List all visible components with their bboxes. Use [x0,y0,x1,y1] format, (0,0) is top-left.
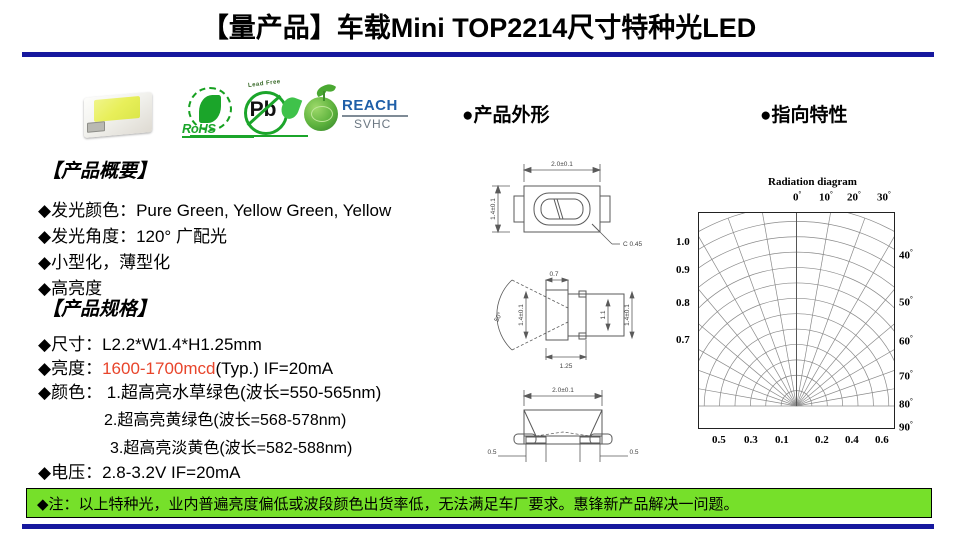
cad-top-width-dim: 2.0±0.1 [551,161,573,168]
overview-item-compact: ◆小型化，薄型化 [38,248,170,273]
reach-globe-icon [304,97,338,131]
overview-item-color: ◆发光颜色：Pure Green, Yellow Green, Yellow [38,196,391,221]
radiation-polar-grid [699,213,894,428]
spec-color-2: 2.超高亮黄绿色(波长=568-578nm) [104,406,346,430]
spec-color-3: 3.超高亮淡黄色(波长=582-588nm) [110,434,352,458]
radiation-left-tick-0-7: 0.7 [676,334,690,346]
spec-brightness-suffix: (Typ.) IF=20mA [216,359,334,378]
footer-divider [22,524,934,529]
reach-logo: REACH SVHC [302,85,410,139]
radiation-right-tick-90: 90° [899,420,913,434]
radiation-right-tick-40: 40° [899,248,913,262]
pb-underline [190,135,308,137]
radiation-right-tick-60: 60° [899,334,913,348]
section-heading-outline: ●产品外形 [462,100,549,127]
cad-side-top-dim: 0.7 [549,271,558,278]
cad-side-left-dim: 1.4±0.1 [518,304,525,326]
footer-note-text: ◆注：以上特种光，业内普遍亮度偏低或波段颜色出货率低，无法满足车厂要求。惠锋新产… [37,493,739,514]
radiation-plot-area [698,212,895,429]
radiation-bottom-tick-0-4: 0.4 [845,434,859,446]
cad-front-view: 2.0±0.1 0.5 0.5 [484,378,662,482]
cad-side-inner-dim: 1.1 [600,310,607,319]
cad-top-height-dim: 1.4±0.1 [490,198,497,220]
radiation-right-tick-80: 80° [899,397,913,411]
led-electrode-pad [87,121,105,133]
cad-side-bottom-dim: 1.25 [560,363,573,370]
led-phosphor-surface [94,96,140,122]
cad-front-width-dim: 2.0±0.1 [552,387,574,394]
pb-free-logo: Lead Free Pb [238,83,308,139]
radiation-bottom-tick-0-5: 0.5 [712,434,726,446]
spec-color-1: ◆颜色： 1.超高亮水草绿色(波长=550-565nm) [38,378,381,403]
radiation-bottom-tick-0-6: 0.6 [875,434,889,446]
radiation-right-tick-50: 50° [899,295,913,309]
spec-brightness: ◆亮度：1600-1700mcd(Typ.) IF=20mA [38,354,333,379]
radiation-top-tick-30: 30° [877,190,891,204]
cad-side-view: 0.7 1.4±0.1 1.1 1.4±0.1 1.25 50° [484,258,662,374]
radiation-bottom-tick-0-1: 0.1 [775,434,789,446]
page-title: 【量产品】车载Mini TOP2214尺寸特种光LED [0,6,958,45]
overview-heading: 【产品概要】 [42,156,156,183]
radiation-bottom-tick-0-2: 0.2 [815,434,829,446]
radiation-diagram: Radiation diagram 0° 10° 20° 30° 40° 50°… [688,172,938,472]
radiation-left-tick-0-8: 0.8 [676,297,690,309]
cad-top-view: 2.0±0.1 1.4±0.1 C 0.45 [484,148,662,256]
spec-voltage: ◆电压：2.8-3.2V IF=20mA [38,458,241,483]
spec-heading: 【产品规格】 [42,294,156,321]
certification-logo-row: RoHS Lead Free Pb REACH SVHC [70,83,410,145]
reach-label: REACH [342,97,398,114]
rohs-label: RoHS [182,121,215,136]
radiation-left-tick-0-9: 0.9 [676,264,690,276]
radiation-top-tick-0: 0° [793,190,801,204]
spec-brightness-prefix: ◆亮度： [38,359,102,378]
header-divider [22,52,934,57]
led-chip-photo [78,91,156,137]
cad-front-right-dim: 0.5 [629,449,638,456]
overview-item-angle: ◆发光角度：120° 广配光 [38,222,227,247]
spec-size: ◆尺寸：L2.2*W1.4*H1.25mm [38,330,262,355]
reach-sublabel: SVHC [354,117,391,131]
radiation-bottom-tick-0-3: 0.3 [744,434,758,446]
section-heading-radiation: ●指向特性 [760,100,847,127]
cad-front-left-dim: 0.5 [487,449,496,456]
radiation-left-tick-1-0: 1.0 [676,236,690,248]
slide-page: 【量产品】车载Mini TOP2214尺寸特种光LED RoHS Lead Fr… [0,0,958,533]
radiation-top-tick-20: 20° [847,190,861,204]
radiation-right-tick-70: 70° [899,369,913,383]
reach-sprout-icon [314,83,334,101]
spec-brightness-value: 1600-1700mcd [102,359,215,378]
footer-note-bar: ◆注：以上特种光，业内普遍亮度偏低或波段颜色出货率低，无法满足车厂要求。惠锋新产… [26,488,932,518]
cad-side-angle-dim: 50° [492,310,504,323]
cad-side-right-dim: 1.4±0.1 [624,304,631,326]
radiation-diagram-title: Radiation diagram [768,176,857,188]
cad-chamfer-note: C 0.45 [623,241,643,248]
radiation-top-tick-10: 10° [819,190,833,204]
pb-free-caption: Lead Free [248,79,281,89]
